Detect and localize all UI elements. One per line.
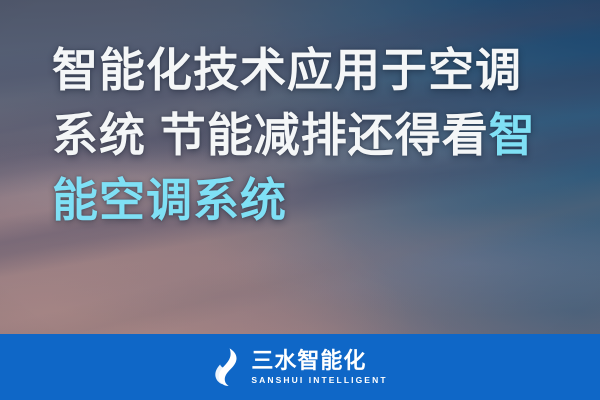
headline-segment-plain: 智能化技术应用于空调系统 节能减排还得看: [52, 44, 522, 161]
water-drop-flame-icon: [212, 348, 242, 386]
brand-name-cn: 三水智能化: [251, 349, 366, 372]
headline-title: 智能化技术应用于空调系统 节能减排还得看智能空调系统: [52, 38, 552, 233]
brand-text-block: 三水智能化 SANSHUI INTELLIGENT: [251, 349, 387, 385]
poster-banner: 智能化技术应用于空调系统 节能减排还得看智能空调系统 三水智能化 SANSHUI…: [0, 0, 600, 400]
brand-name-en: SANSHUI INTELLIGENT: [251, 375, 387, 385]
brand-lockup: 三水智能化 SANSHUI INTELLIGENT: [212, 348, 387, 386]
brand-footer-bar: 三水智能化 SANSHUI INTELLIGENT: [0, 334, 600, 400]
